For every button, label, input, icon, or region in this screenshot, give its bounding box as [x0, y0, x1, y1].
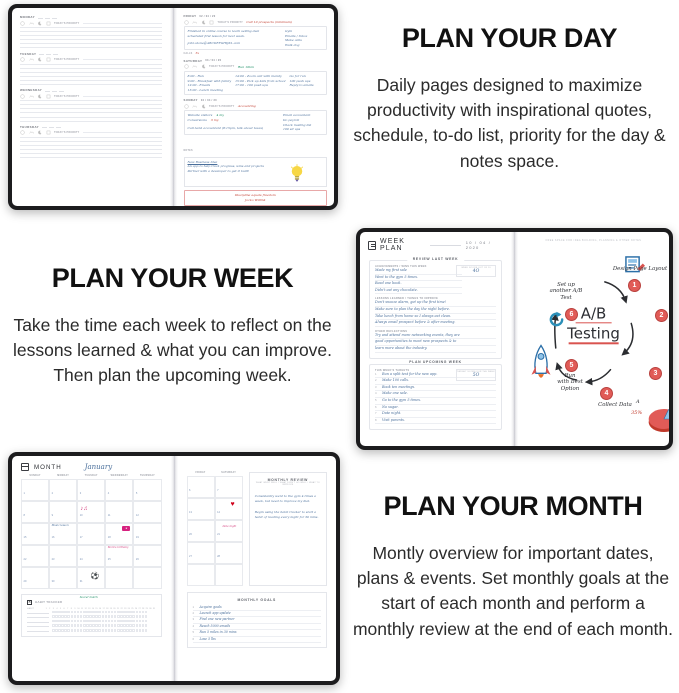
target-row: 5Go to the gym 5 times.: [375, 398, 496, 405]
week-score-box: WEEK SCORE OUT OF 10 4O: [456, 265, 496, 277]
calendar-cell[interactable]: 21: [215, 520, 243, 542]
moon-icon: [37, 57, 42, 62]
calendar-icon: [21, 463, 29, 471]
priority-label: TODAY'S PRIORITY: [209, 65, 234, 68]
goal-text: Reach 5000 emails: [200, 624, 231, 629]
target-row: 3Book ten meetings.: [375, 385, 496, 392]
habit-day-header: HABIT 1234567891011121314151617181920212…: [27, 608, 156, 610]
habit-row: [27, 615, 156, 618]
entry-todo-list: Email accountant Do payroll Check mailin…: [283, 113, 323, 131]
schedule-item: 17:00 - 100 push ups: [235, 83, 285, 88]
entry-email: john.stone@ABCDEFGHIJKL.com: [188, 41, 282, 46]
cycle-label-4: Collect Data: [591, 402, 639, 408]
day-number: 18: [108, 536, 111, 539]
week-plan-title: WEEK PLAN: [380, 238, 426, 252]
week-plan-icon: [368, 241, 376, 250]
week-plan-header: WEEK PLAN 10 / 04 / 2020: [360, 232, 511, 255]
priority-label: TODAY'S PRIORITY: [218, 21, 243, 24]
day-section: TUESDAY TODAY'S PRIORITY: [20, 52, 162, 85]
day-icon-row: TODAY'S PRIORITY: [20, 57, 162, 62]
priority-label: TODAY'S PRIORITY: [209, 105, 234, 108]
weekly-planner-image: WEEK PLAN 10 / 04 / 2020 REVIEW LAST WEE…: [356, 228, 673, 450]
mood-icon: [184, 104, 189, 109]
day-name: FRIDAY: [184, 14, 197, 18]
section-week: PLAN YOUR WEEK Take the time each week t…: [6, 264, 339, 389]
day-number: 13: [189, 511, 192, 514]
entry-notes: Finished in online course to learn selli…: [188, 29, 282, 47]
water-icon: [46, 21, 51, 26]
calendar-cell[interactable]: [105, 567, 133, 589]
calendar-cell[interactable]: 7: [215, 476, 243, 498]
day-icon-row: TODAY'S PRIORITY Accounting: [184, 104, 328, 109]
day-number: 26: [136, 558, 139, 561]
rocket-icon: [530, 344, 552, 388]
moon-icon: [201, 64, 206, 69]
review-line: learn more about the industry.: [375, 346, 496, 353]
day-icon-row: TODAY'S PRIORITY Run 10km: [184, 64, 328, 69]
entry-todo-list: Gym Emails / Inbox Make calls Walk dog: [285, 29, 323, 47]
review-line: Try and attend more networking events, t…: [375, 333, 496, 340]
day-icon-row: TODAY'S PRIORITY: [20, 21, 162, 26]
priority-line: [83, 59, 162, 60]
target-row: 6No sugar.: [375, 405, 496, 412]
priority-label: TODAY'S PRIORITY: [54, 131, 79, 134]
moon-icon: [201, 104, 206, 109]
water-icon: [46, 94, 51, 99]
day-number: 5: [136, 492, 137, 495]
calendar-grid-right: 6 7 13 14 ♥ Date night 20 21 27 28: [187, 476, 243, 586]
day-header: SATURDAY 03 / 04 / 20: [184, 59, 328, 63]
review-line: Didn't eat any chocolate.: [375, 288, 462, 295]
priority-label: TODAY'S PRIORITY: [54, 58, 79, 61]
panel-title: REVIEW LAST WEEK: [407, 257, 464, 261]
day-number: 17: [80, 536, 83, 539]
day-number: 10: [80, 514, 83, 517]
monthly-goals-panel: MONTHLY GOALS 1Acquire goals 2Launch app…: [187, 592, 328, 648]
cycle-label-5: Run with Best Option: [552, 373, 588, 392]
monthly-right-page: FRIDAY SATURDAY 6 7 13 14 ♥ Date night 2…: [178, 456, 337, 681]
calendar-cell[interactable]: 29: [21, 567, 49, 589]
writing-lines: [20, 100, 162, 121]
week-date-line: 10 / 04 / 2020: [430, 240, 503, 250]
section-body: Take the time each week to reflect on th…: [6, 313, 339, 389]
cycle-label-2: Create Variations: [668, 306, 669, 319]
day-name: MONDAY: [20, 15, 35, 19]
review-line: Made my first sale: [375, 268, 462, 275]
notes-label: NOTES: [184, 138, 328, 156]
entry-todo-list: Go for run 100 push ups Reply to emails: [289, 74, 325, 92]
review-line: Always email prospect before & after mee…: [375, 320, 496, 327]
calendar-cell[interactable]: 1: [21, 479, 49, 501]
day-header: TUESDAY: [20, 52, 162, 56]
review-line: Make sure to plan the day the night befo…: [375, 307, 496, 314]
day-name: TUESDAY: [20, 52, 36, 56]
calendar-right-wrap: FRIDAY SATURDAY 6 7 13 14 ♥ Date night 2…: [187, 472, 243, 586]
book-gutter: [511, 232, 518, 446]
habit-row: [27, 624, 156, 627]
priority-label: TODAY'S PRIORITY: [54, 95, 79, 98]
entry-date: 03 / 04 / 20: [205, 59, 221, 62]
calendar-cell[interactable]: 25: [105, 545, 133, 567]
mood-icon: [20, 21, 25, 26]
moon-icon: [201, 20, 206, 25]
metric-value: 3 my: [211, 118, 219, 123]
calendar-cell[interactable]: 22: [21, 545, 49, 567]
water-icon: [46, 57, 51, 62]
calendar-cell[interactable]: 14 ♥ Date night: [215, 498, 243, 520]
day-icon-row: TODAY'S PRIORITY: [20, 94, 162, 99]
priority-value: Accounting: [238, 104, 256, 109]
moon-icon: [37, 130, 42, 135]
mood-icon: [184, 64, 189, 69]
calendar-cell[interactable]: 2: [49, 479, 77, 501]
daily-planner-image: MONDAY TODAY'S PRIORITY TUESDAY: [8, 4, 338, 210]
day-number: 11: [108, 514, 111, 517]
day-number: 7: [217, 489, 218, 492]
entry-metrics: Website visitors 4 my Conversions 3 my C…: [188, 113, 280, 131]
daily-entry-saturday: SATURDAY 03 / 04 / 20 TODAY'S PRIORITY R…: [184, 59, 328, 95]
daily-right-page: FRIDAY 02 / 04 / 20 TODAY'S PRIORITY Cal…: [177, 8, 335, 206]
priority-label: TODAY'S PRIORITY: [54, 22, 79, 25]
day-section: THURSDAY TODAY'S PRIORITY: [20, 125, 162, 158]
date-boxes: [38, 16, 57, 19]
section-body: Montly overview for important dates, pla…: [352, 541, 674, 643]
priority-line: [83, 96, 162, 97]
goal-text: Lose 5 lbs: [200, 637, 216, 642]
gift-icon: ★: [122, 526, 130, 531]
day-header: THURSDAY: [20, 125, 162, 129]
day-number: 15: [24, 536, 27, 539]
goal-text: Acquire goals: [200, 605, 222, 610]
cycle-label-6: Set up another A/B Test: [542, 282, 590, 301]
weekly-right-page: FREE SPACE FOR IDEA BUILDING, PLANNING &…: [518, 232, 669, 446]
calendar-cell[interactable]: 10 ♪♫: [77, 501, 105, 523]
mood-icon: [184, 20, 189, 25]
section-title: PLAN YOUR WEEK: [6, 264, 339, 294]
entry-note-line: scheduled first lesson for next week.: [188, 34, 282, 39]
calendar-cell[interactable]: 23: [49, 545, 77, 567]
section-day: PLAN YOUR DAY Daily pages designed to ma…: [352, 24, 667, 174]
schedule-right: 14:00 - Zoom call with mandy 15:00 - Pic…: [235, 74, 285, 92]
habit-row: [27, 629, 156, 632]
month-value: January: [85, 463, 112, 471]
weather-icon: [192, 64, 197, 69]
checkbox-icon: ✕: [27, 600, 32, 605]
calls-tally-row: CALLS 5x: [184, 51, 328, 56]
entry-note-line: Call bank accountant (8:15pm, talk about…: [188, 126, 280, 131]
habit-day-numbers: 1234567891011121314151617181920212223242…: [45, 608, 156, 610]
day-number: 9: [52, 514, 53, 517]
day-icon-row: TODAY'S PRIORITY: [20, 130, 162, 135]
weather-icon: [29, 94, 34, 99]
goal-text: Launch app update: [200, 611, 231, 616]
water-icon: [46, 130, 51, 135]
cycle-node-4: 4: [600, 387, 613, 400]
habit-tracker-panel: ✕ HABIT TRACKER HABIT 123456789101112131…: [21, 594, 162, 637]
calendar-cell[interactable]: [133, 567, 161, 589]
entry-date: 04 / 04 / 20: [201, 99, 217, 102]
calendar-cell[interactable]: 19: [133, 523, 161, 545]
lessons-group: LESSONS LEARNED / THINGS TO IMPROVE Don'…: [375, 297, 496, 326]
day-number: 1: [24, 492, 25, 495]
calendar-cell[interactable]: 15: [21, 523, 49, 545]
todo-item: Reply to emails: [289, 83, 325, 88]
date-boxes: [42, 125, 61, 128]
section-title: PLAN YOUR DAY: [352, 24, 667, 54]
target-row: 7Date night.: [375, 411, 496, 418]
day-number: 16: [52, 536, 55, 539]
day-number: 29: [24, 580, 27, 583]
day-number: 22: [24, 558, 27, 561]
pie-value-a: 35%: [631, 410, 642, 416]
todo-item: Walk dog: [285, 43, 323, 48]
calendar-grid-left: 1 2 3 4 5 8 9 Music lesson 10 ♪♫ 11 12 1…: [21, 479, 162, 589]
day-header: WEDNESDAY: [20, 88, 162, 92]
day-number: 14: [217, 511, 220, 514]
review-last-week-panel: REVIEW LAST WEEK WEEK SCORE OUT OF 10 4O…: [369, 260, 502, 359]
calendar-cell[interactable]: 18 ★ Mom's birthday: [105, 523, 133, 545]
moon-icon: [37, 94, 42, 99]
habit-tracker-header: ✕ HABIT TRACKER: [27, 600, 156, 605]
date-boxes: [39, 52, 58, 55]
notes-box: New Business Idea An app to help track p…: [184, 157, 328, 187]
entry-body: 8:00 - Run 9:00 - Breakfast with family …: [184, 71, 328, 95]
calendar-cell[interactable]: 20: [187, 520, 215, 542]
cycle-node-3: 3: [649, 367, 662, 380]
daily-left-page: MONDAY TODAY'S PRIORITY TUESDAY: [12, 8, 170, 206]
target-text: Book ten meetings.: [382, 385, 496, 391]
day-number: 8: [24, 514, 25, 517]
day-number: 19: [136, 536, 139, 539]
writing-lines: [20, 27, 162, 48]
day-number: 23: [52, 558, 55, 561]
day-number: 12: [136, 514, 139, 517]
schedule-item: 13:00 - Lunch meeting: [188, 88, 232, 93]
day-name: SATURDAY: [184, 59, 203, 63]
reflections-group: OTHER REFLECTIONS Try and attend more ne…: [375, 330, 496, 353]
day-number: 30: [52, 580, 55, 583]
target-score-box: TARGET SCORE FOR THE WEEK 5O: [456, 369, 496, 381]
monthly-review-caption: WHAT WENT WELL / WHAT DIDN'T GO WELL / W…: [255, 482, 321, 486]
goal-row: 6Lose 5 lbs: [193, 637, 322, 643]
review-line: Don't snooze alarm, get up the first tim…: [375, 300, 496, 307]
quote-box: Discipline equals freedom Jocko Willink: [184, 190, 328, 206]
target-row: 8Visit parents.: [375, 418, 496, 425]
day-number: 4: [108, 492, 109, 495]
calendar-cell[interactable]: 28: [215, 542, 243, 564]
day-header: MONDAY: [20, 15, 162, 19]
achievements-group: ACHIEVEMENTS / WINS THIS WEEK Made my fi…: [375, 265, 462, 294]
calendar-cell[interactable]: 17: [77, 523, 105, 545]
target-row: 4Make one sale.: [375, 391, 496, 398]
habit-rows: [27, 611, 156, 632]
month-title: MONTH: [34, 464, 62, 471]
day-number: 27: [189, 555, 192, 558]
target-text: Date night.: [382, 411, 496, 417]
daily-entry-friday: FRIDAY 02 / 04 / 20 TODAY'S PRIORITY Cal…: [184, 14, 328, 56]
priority-line: [83, 132, 162, 133]
plan-upcoming-week-panel: PLAN UPCOMING WEEK TARGET SCORE FOR THE …: [369, 364, 502, 431]
week-date: 10 / 04 / 2020: [466, 240, 503, 250]
todo-item: 100 sit ups: [283, 127, 323, 132]
section-month: PLAN YOUR MONTH Montly overview for impo…: [352, 492, 674, 642]
weather-icon: [29, 130, 34, 135]
panel-title: PLAN UPCOMING WEEK: [403, 360, 468, 364]
day-number: 3: [80, 492, 81, 495]
calendar-cell[interactable]: 30: [49, 567, 77, 589]
habit-tracker-title: HABIT TRACKER: [35, 600, 62, 604]
lightbulb-icon: [290, 164, 304, 184]
weekly-left-page: WEEK PLAN 10 / 04 / 2020 REVIEW LAST WEE…: [360, 232, 511, 446]
day-number: 6: [189, 489, 190, 492]
review-line: Read one book.: [375, 281, 462, 288]
schedule-left: 8:00 - Run 9:00 - Breakfast with family …: [188, 74, 232, 92]
cycle-node-2: 2: [655, 309, 668, 322]
day-number: 24: [80, 558, 83, 561]
weather-icon: [192, 20, 197, 25]
calendar-cell[interactable]: 11: [105, 501, 133, 523]
day-number: 2: [52, 492, 53, 495]
monthly-goals-title: MONTHLY GOALS: [193, 598, 322, 602]
monthly-left-page: MONTH January SUNDAY MONDAY TUESDAY WEDN…: [12, 456, 171, 681]
pie-chart-icon: [641, 402, 669, 436]
mood-icon: [20, 130, 25, 135]
monthly-planner-image: MONTH January SUNDAY MONDAY TUESDAY WEDN…: [8, 452, 340, 685]
calendar-cell[interactable]: 12: [133, 501, 161, 523]
habit-row: [27, 611, 156, 614]
cycle-label-1: Design Page Layout: [606, 266, 669, 272]
day-section: WEDNESDAY TODAY'S PRIORITY: [20, 88, 162, 121]
day-number: 28: [217, 555, 220, 558]
score-value: 4O: [457, 269, 495, 274]
book-gutter: [171, 456, 178, 681]
daily-entry-sunday: SUNDAY 04 / 04 / 20 TODAY'S PRIORITY Acc…: [184, 98, 328, 134]
target-text: No sugar.: [382, 405, 496, 411]
review-line: Went to the gym 5 times.: [375, 275, 462, 282]
calendar-cell[interactable]: 24: [77, 545, 105, 567]
review-line: Take lunch from home so I always eat cle…: [375, 314, 496, 321]
weather-icon: [29, 57, 34, 62]
weather-icon: [192, 104, 197, 109]
calendar-cell[interactable]: [215, 564, 243, 586]
review-paragraph: Begin using the habit tracker to start a…: [255, 510, 321, 520]
day-header: FRIDAY 02 / 04 / 20: [184, 14, 328, 18]
metric-label: Conversions: [188, 118, 207, 123]
calendar-cell[interactable]: 13: [187, 498, 215, 520]
day-number: 20: [189, 533, 192, 536]
ab-testing-diagram: FREE SPACE FOR IDEA BUILDING, PLANNING &…: [518, 232, 669, 446]
cycle-node-6: 6: [565, 308, 578, 321]
day-number: 31: [80, 580, 83, 583]
weather-icon: [29, 21, 34, 26]
calendar-cell[interactable]: [187, 564, 215, 586]
calendar-cell[interactable]: 27: [187, 542, 215, 564]
day-number: 21: [217, 533, 220, 536]
target-text: Make one sale.: [382, 391, 496, 397]
section-body: Daily pages designed to maximize product…: [352, 73, 667, 175]
music-note-icon: ♪♫: [80, 506, 88, 512]
entry-date: 02 / 04 / 20: [199, 15, 215, 18]
day-name: WEDNESDAY: [20, 88, 42, 92]
monthly-right-top: FRIDAY SATURDAY 6 7 13 14 ♥ Date night 2…: [178, 456, 337, 586]
day-header: SUNDAY 04 / 04 / 20: [184, 98, 328, 102]
target-text: Go to the gym 5 times.: [382, 398, 496, 404]
calendar-cell[interactable]: 31 ⚽ Soccer match: [77, 567, 105, 589]
book-gutter: [170, 8, 177, 206]
section-title: PLAN YOUR MONTH: [352, 492, 674, 522]
calendar-cell[interactable]: 5: [133, 479, 161, 501]
month-header: MONTH January: [12, 456, 171, 475]
calendar-cell[interactable]: 3: [77, 479, 105, 501]
review-paragraph: Consistently went to the gym 4 times a w…: [255, 494, 321, 504]
calendar-cell[interactable]: 16: [49, 523, 77, 545]
schedule-item: 14:00 - Zoom call with mandy: [235, 74, 285, 79]
target-text: Visit parents.: [382, 418, 496, 424]
priority-value: Run 10km: [238, 65, 254, 70]
water-icon: [209, 20, 214, 25]
daily-day-list: MONDAY TODAY'S PRIORITY TUESDAY: [12, 8, 170, 158]
priority-line: [83, 23, 162, 24]
heart-icon: ♥: [231, 501, 235, 508]
refresh-loop-icon: [548, 311, 565, 328]
mood-icon: [20, 57, 25, 62]
score-value: 5O: [457, 373, 495, 378]
entry-body: Finished in online course to learn selli…: [184, 26, 328, 50]
priority-value: Call 10 prospects (minimum): [246, 20, 292, 25]
day-icon-row: TODAY'S PRIORITY Call 10 prospects (mini…: [184, 20, 328, 25]
calendar-cell[interactable]: 4: [105, 479, 133, 501]
calls-tally: 5x: [195, 51, 199, 56]
day-section: MONDAY TODAY'S PRIORITY: [20, 15, 162, 48]
quote-author: Jocko Willink: [188, 198, 324, 203]
day-number: 25: [108, 558, 111, 561]
day-name: THURSDAY: [20, 125, 39, 129]
calls-label: CALLS: [184, 52, 193, 55]
cycle-label-3: Define Test Plan: [665, 366, 669, 379]
daily-entries: FRIDAY 02 / 04 / 20 TODAY'S PRIORITY Cal…: [177, 8, 335, 206]
goal-text: Find one new partner: [200, 617, 235, 622]
layout-icon: [623, 254, 645, 276]
date-boxes: [45, 89, 64, 92]
entry-body: Website visitors 4 my Conversions 3 my C…: [184, 110, 328, 134]
cycle-node-5: 5: [565, 359, 578, 372]
writing-lines: [20, 137, 162, 158]
calendar-cell[interactable]: 6: [187, 476, 215, 498]
habit-label: HABIT: [27, 608, 42, 610]
goal-text: Run 5 miles in 30 mins: [200, 630, 237, 635]
cycle-node-1: 1: [628, 279, 641, 292]
calendar-cell[interactable]: 8: [21, 501, 49, 523]
day-name: SUNDAY: [184, 98, 198, 102]
calendar-cell[interactable]: 9 Music lesson: [49, 501, 77, 523]
writing-lines: [20, 64, 162, 85]
moon-icon: [37, 21, 42, 26]
mood-icon: [20, 94, 25, 99]
calendar-cell[interactable]: 26: [133, 545, 161, 567]
monthly-review-panel: MONTHLY REVIEW WHAT WENT WELL / WHAT DID…: [249, 472, 327, 586]
habit-row: [27, 620, 156, 623]
football-icon: ⚽: [91, 572, 100, 580]
review-line: good opportunities to meet new prospects…: [375, 339, 496, 346]
